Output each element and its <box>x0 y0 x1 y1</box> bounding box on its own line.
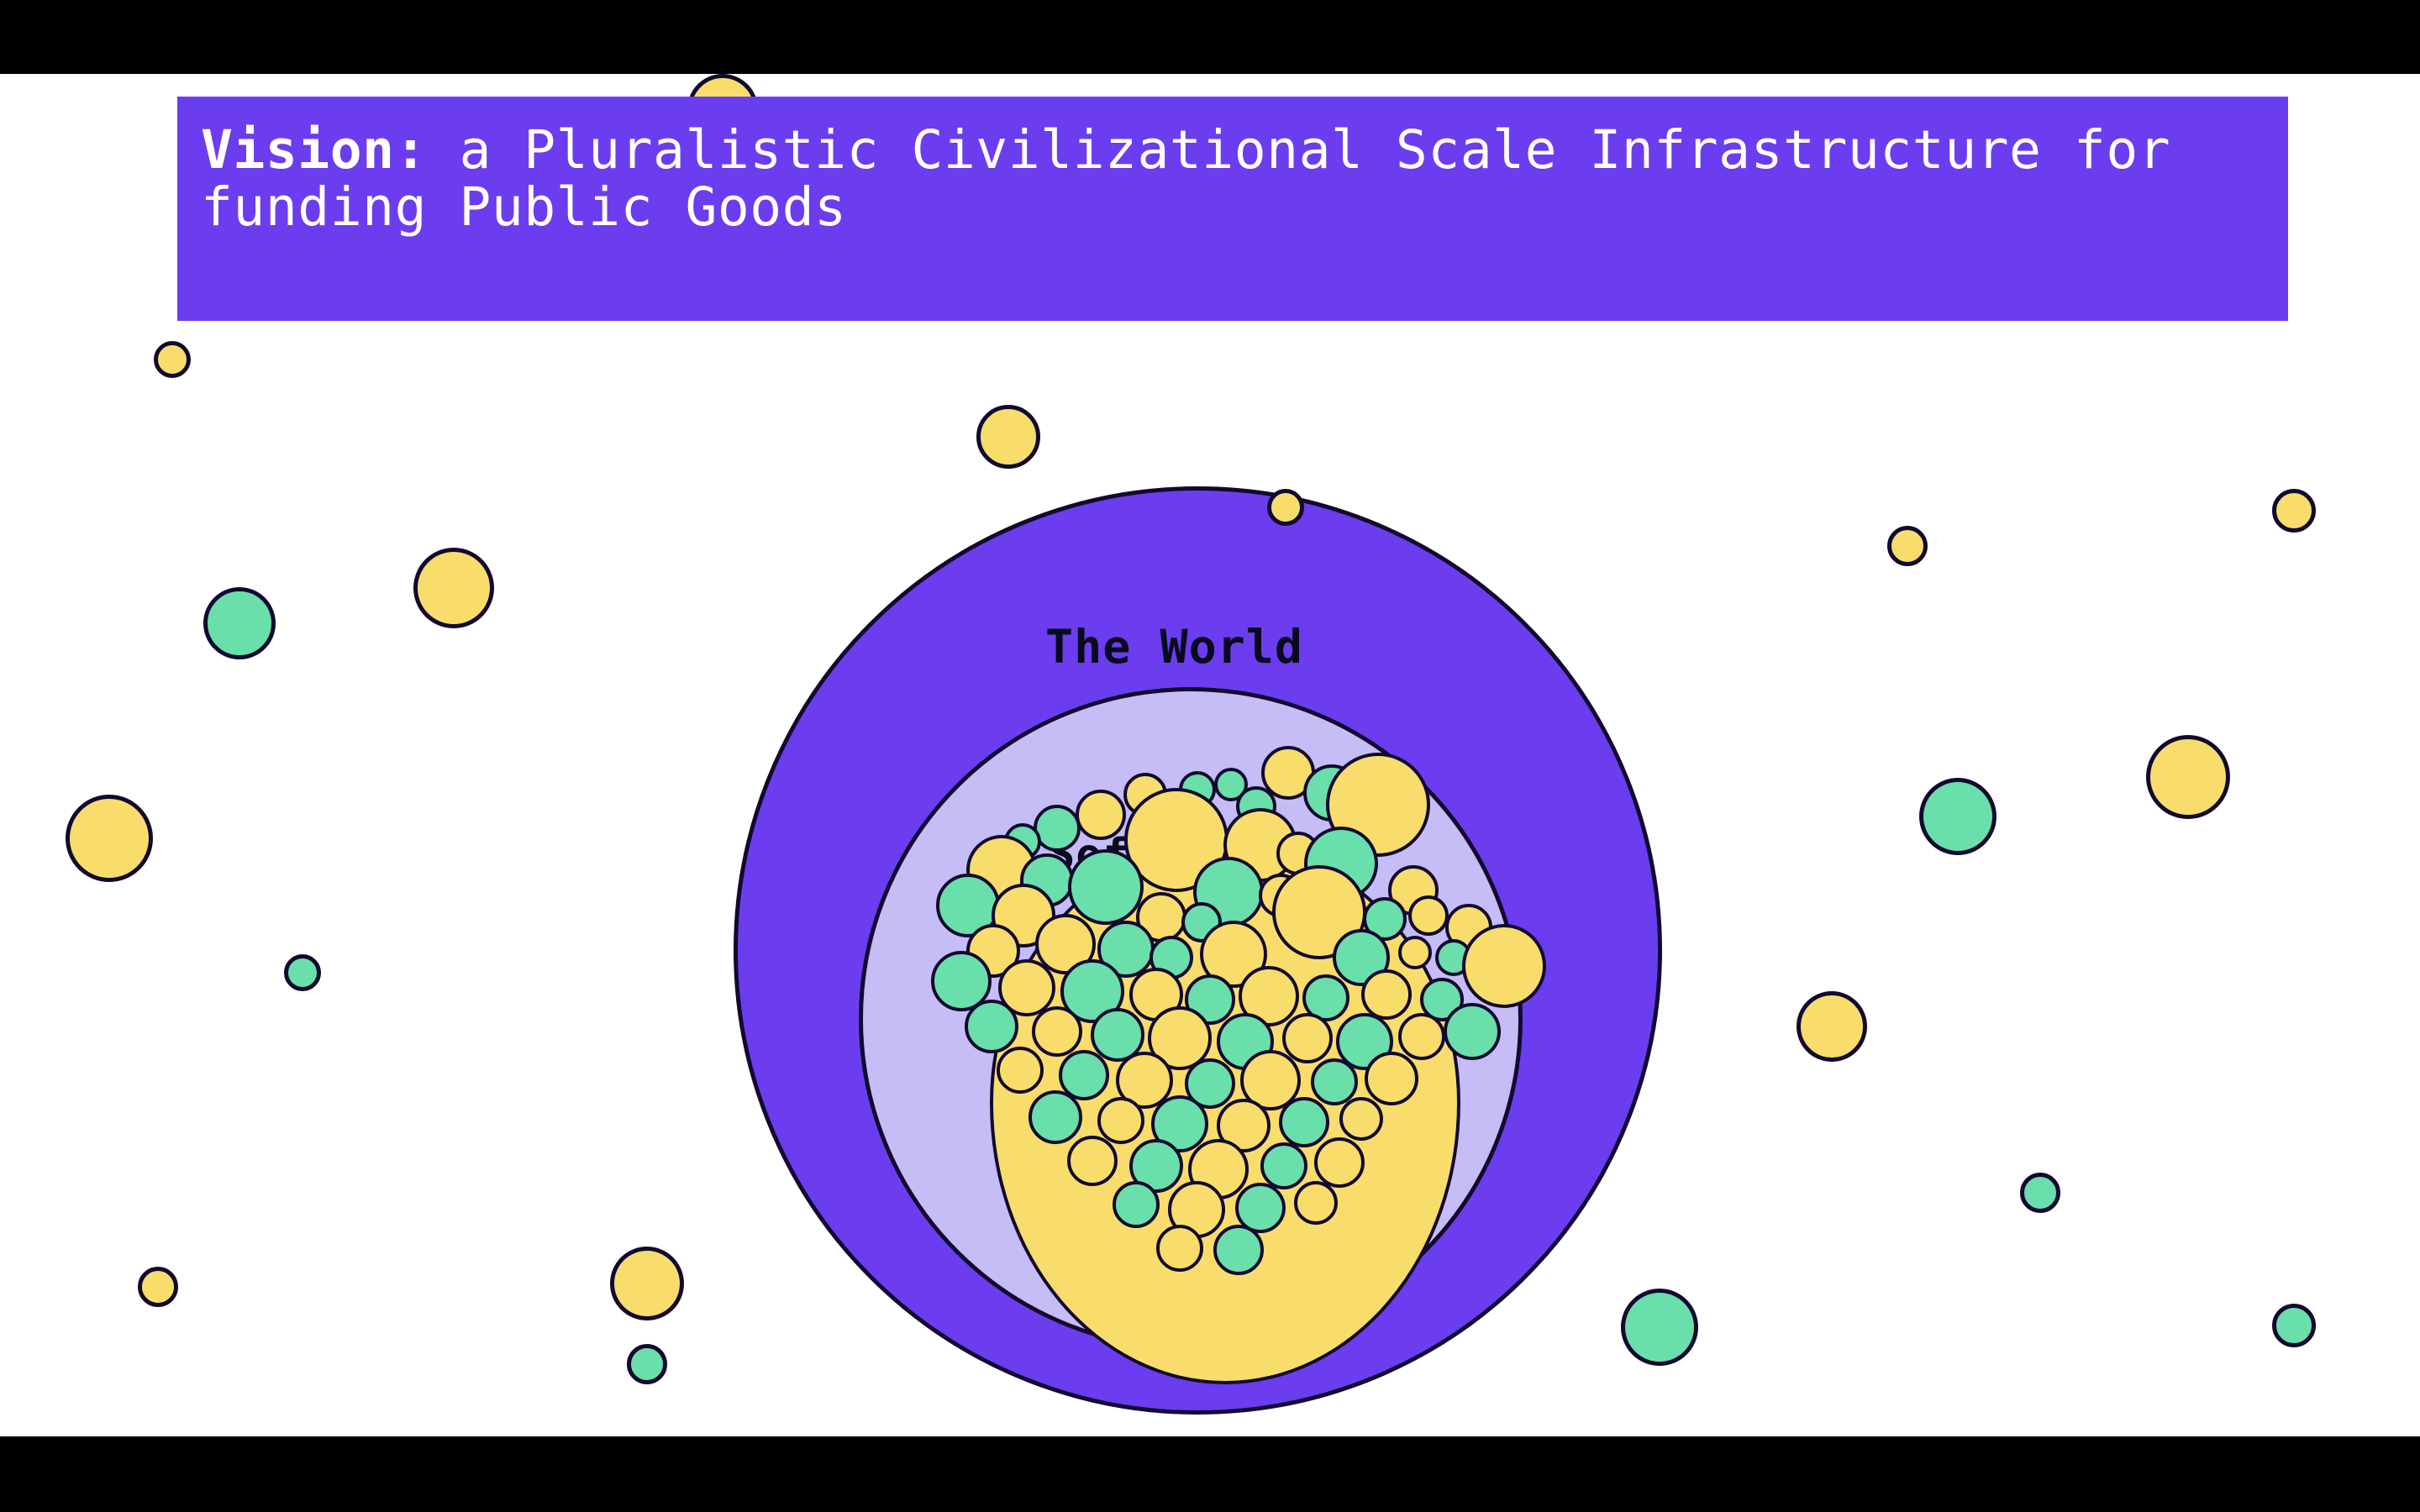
slide-stage: The World Software Vision: a Pluralistic… <box>0 0 2420 1512</box>
page-title: Vision: a Pluralistic Civilizational Sca… <box>201 122 2265 236</box>
scatter-bubble <box>154 341 191 378</box>
scatter-bubble <box>1887 526 1928 566</box>
letterbox-top-bar <box>0 0 2420 74</box>
scatter-bubble <box>66 795 153 882</box>
scatter-bubble <box>1919 778 1996 855</box>
letterbox-bottom-bar <box>0 1436 2420 1512</box>
title-lead: Vision: <box>201 119 427 181</box>
scatter-bubble <box>2272 1304 2316 1347</box>
world-ring-label: The World <box>1045 620 1303 674</box>
scatter-bubble <box>610 1247 684 1320</box>
scatter-bubble <box>2272 489 2316 533</box>
public-goods-blob <box>990 843 1460 1384</box>
scatter-bubble <box>976 405 1040 469</box>
scatter-bubble <box>1621 1289 1698 1366</box>
scatter-bubble <box>2020 1173 2060 1213</box>
scatter-bubble <box>2146 735 2230 819</box>
scatter-bubble <box>138 1267 178 1307</box>
title-banner: Vision: a Pluralistic Civilizational Sca… <box>177 97 2288 321</box>
scatter-bubble <box>627 1344 667 1384</box>
scatter-bubble <box>1797 991 1867 1062</box>
scatter-bubble <box>284 954 321 991</box>
scatter-bubble <box>413 548 494 628</box>
title-rest: a Pluralistic Civilizational Scale Infra… <box>201 119 2203 238</box>
scatter-bubble <box>203 587 276 659</box>
